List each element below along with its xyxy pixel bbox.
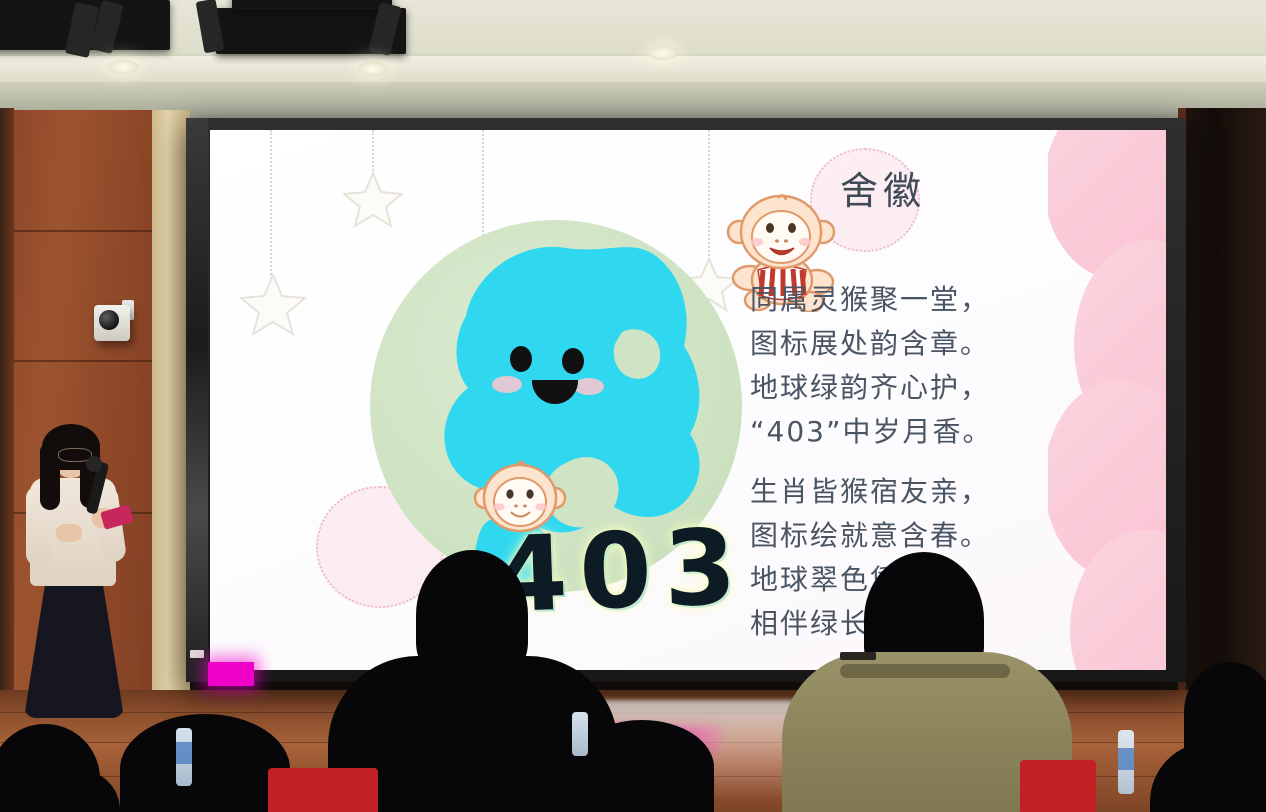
audience-member-3-collar (840, 664, 1010, 678)
presentation-scene: 403 (0, 0, 1266, 812)
presentation-slide: 403 (210, 130, 1166, 670)
earth-eye-left (510, 346, 532, 372)
slide-title: 舍徽 (718, 160, 1048, 215)
verse-1-line-1: 同属灵猴聚一堂， (750, 278, 1070, 322)
ceiling-soffit (0, 56, 1266, 82)
screen-left-strip (186, 118, 208, 682)
verse-block-1: 同属灵猴聚一堂， 图标展处韵含章。 地球绿韵齐心护， “403”中岁月香。 (750, 278, 1070, 454)
earth-eye-right (562, 348, 584, 374)
audience-member-2-head (570, 720, 714, 812)
verse-1-line-4: “403”中岁月香。 (750, 410, 1070, 454)
wall-light-post (152, 110, 190, 720)
right-dark-wall (1178, 108, 1266, 728)
water-bottle-center (572, 712, 588, 756)
stage-light-fixture-3 (232, 0, 392, 10)
water-bottle-left-label (176, 742, 192, 764)
water-bottle-right-label (1118, 748, 1134, 770)
audience-shoulder-far-left (0, 770, 120, 812)
presenter-hair-left (40, 444, 60, 510)
camera-lens-icon (99, 310, 119, 330)
chair-back-center (268, 768, 378, 812)
screen-magenta-indicator (208, 662, 254, 686)
wall-left-edge (0, 108, 14, 732)
presenter-hand-left (56, 524, 82, 542)
verse-1-line-3: 地球绿韵齐心护， (750, 366, 1070, 410)
ceiling-downlight-1 (108, 60, 138, 74)
ceiling-downlight-3 (648, 46, 678, 60)
verse-1-line-2: 图标展处韵含章。 (750, 322, 1070, 366)
star-string-1 (270, 130, 272, 282)
earth-cheek-right (574, 378, 604, 395)
monkey-mascot-lower (472, 450, 568, 546)
verse-2-line-2: 图标绘就意含春。 (750, 514, 1070, 558)
chair-back-right (1020, 760, 1096, 812)
verse-2-line-1: 生肖皆猴宿友亲， (750, 470, 1070, 514)
microphone-head-icon (86, 456, 102, 472)
foreground-table-edge (840, 652, 876, 660)
ceiling-downlight-2 (358, 62, 388, 76)
earth-cheek-left (492, 376, 522, 393)
screen-led-indicator (190, 650, 204, 658)
